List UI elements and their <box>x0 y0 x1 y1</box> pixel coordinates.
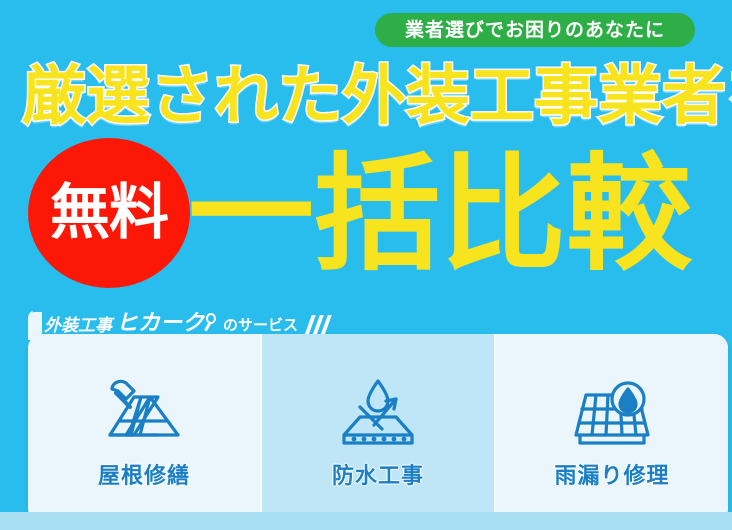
magnifier-icon <box>204 313 219 333</box>
ribbon-suffix: のサービス <box>223 318 298 333</box>
ribbon-prefix: 外装工事 <box>44 317 112 334</box>
service-card-roof-repair[interactable]: 屋根修繕 <box>28 334 260 526</box>
services-panel: 屋根修繕 防水工事 <box>28 334 728 526</box>
headline-line-1: 厳選された外装工事業者を <box>22 58 712 134</box>
headline-badge: 業者選びでお困りのあなたに <box>375 13 695 47</box>
ribbon-brand-text: ヒカーク <box>116 310 204 335</box>
roof-tiles-droplet-icon <box>564 373 660 459</box>
promo-banner: 業者選びでお困りのあなたに 厳選された外装工事業者を 無料 一括比較 外装工事 … <box>0 0 732 530</box>
headline-line-2-text: 一括比較 <box>188 152 692 278</box>
headline-line-2: 一括比較 <box>188 140 708 290</box>
service-card-label: 雨漏り修理 <box>554 465 669 487</box>
service-card-label: 防水工事 <box>332 465 424 487</box>
service-card-leak-repair[interactable]: 雨漏り修理 <box>494 334 728 526</box>
bottom-strip <box>0 512 732 530</box>
waterproof-droplet-arrows-icon <box>330 373 426 459</box>
free-bubble-text: 無料 <box>28 138 190 288</box>
headline-line-1-text: 厳選された外装工事業者を <box>22 64 732 128</box>
headline-badge-text: 業者選びでお困りのあなたに <box>405 21 665 40</box>
service-card-label: 屋根修繕 <box>98 465 190 487</box>
ribbon-slashes-icon <box>308 315 328 336</box>
service-card-waterproofing[interactable]: 防水工事 <box>260 334 494 526</box>
roof-hammer-icon <box>96 373 192 459</box>
free-bubble: 無料 <box>28 138 190 288</box>
